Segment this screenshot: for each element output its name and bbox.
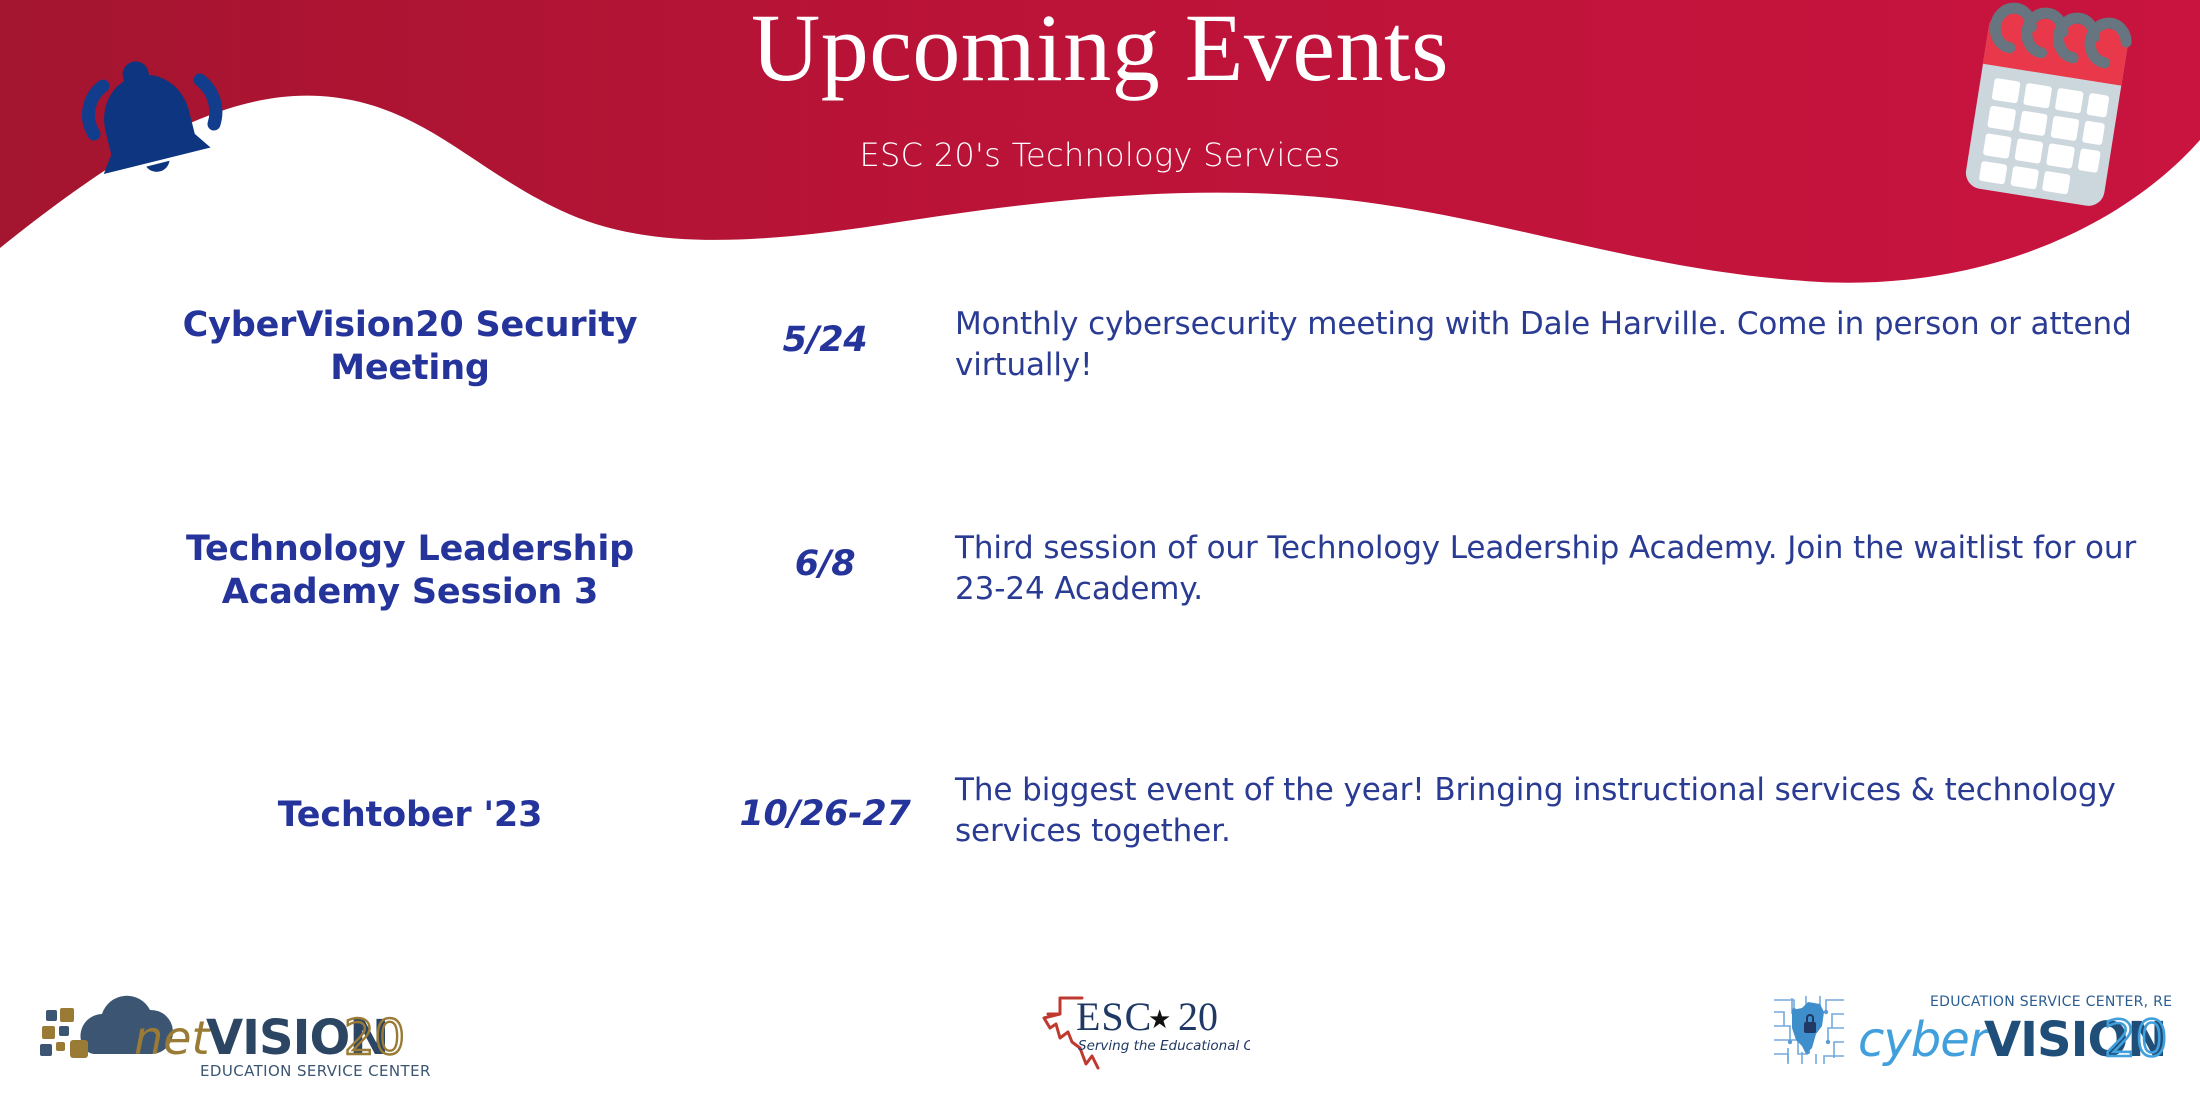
page-header: Upcoming Events ESC 20's Technology Serv…	[0, 0, 2200, 300]
page-title: Upcoming Events	[0, 0, 2200, 100]
event-date: 5/24	[710, 320, 940, 360]
esc-number-text: 20	[1178, 994, 1218, 1039]
cybervision-20-text: 20	[2104, 1010, 2168, 1068]
calendar-icon	[1905, 2, 2185, 212]
event-title: Techtober '23	[110, 794, 710, 837]
event-description: The biggest event of the year! Bringing …	[955, 770, 2195, 852]
event-title: Technology Leadership Academy Session 3	[110, 528, 710, 615]
event-date: 10/26-27	[710, 794, 940, 834]
bell-icon	[62, 38, 232, 198]
cybervision-cyber-text: cyber	[1858, 1012, 1992, 1068]
esc-name-text: ESC	[1076, 994, 1152, 1039]
netvision-20-text: 20	[344, 1010, 405, 1066]
cybervision-tagline: EDUCATION SERVICE CENTER, REGION 20	[1930, 994, 2172, 1010]
esc20-logo: ESC ★ 20 Serving the Educational Communi…	[1020, 984, 1250, 1080]
event-row: Techtober '23 10/26-27 The biggest event…	[0, 756, 2200, 852]
netvision-tagline: EDUCATION SERVICE CENTER, REGION 20	[200, 1062, 430, 1080]
circuit-texas-icon	[1770, 992, 1848, 1070]
esc-star-icon: ★	[1148, 1005, 1171, 1035]
netvision-net-text: net	[134, 1011, 211, 1065]
event-row: CyberVision20 Security Meeting 5/24 Mont…	[0, 290, 2200, 391]
event-description: Monthly cybersecurity meeting with Dale …	[955, 304, 2195, 386]
event-date: 6/8	[710, 544, 940, 584]
footer-logos: net VISION 20 EDUCATION SERVICE CENTER, …	[0, 970, 2200, 1100]
cybervision20-logo: EDUCATION SERVICE CENTER, REGION 20 cybe…	[1762, 984, 2172, 1080]
event-title: CyberVision20 Security Meeting	[110, 304, 710, 391]
page-subtitle: ESC 20's Technology Services	[0, 136, 2200, 174]
netvision20-logo: net VISION 20 EDUCATION SERVICE CENTER, …	[30, 982, 430, 1082]
esc-tagline: Serving the Educational Community	[1078, 1038, 1250, 1054]
event-row: Technology Leadership Academy Session 3 …	[0, 514, 2200, 615]
event-description: Third session of our Technology Leadersh…	[955, 528, 2195, 610]
